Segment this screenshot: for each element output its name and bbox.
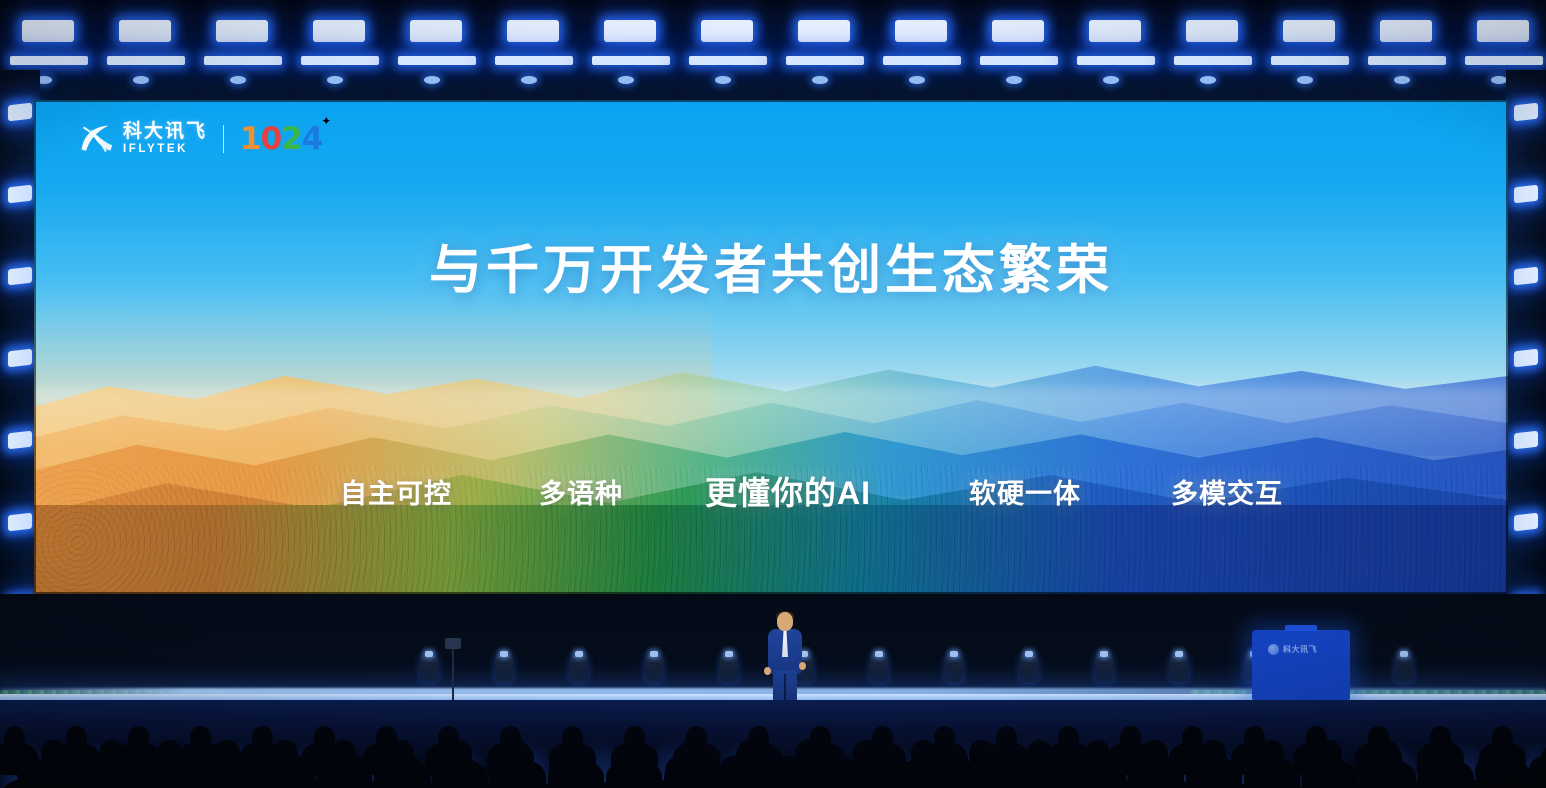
keynote-speaker — [764, 612, 806, 708]
audience-member — [911, 740, 936, 767]
audience-member — [4, 726, 25, 748]
ceiling-spot-icon — [1200, 76, 1216, 84]
moving-head-light-icon — [570, 656, 588, 682]
audience-member — [449, 756, 478, 787]
ceiling-spot-icon — [424, 76, 440, 84]
ceiling-spot-icon — [133, 76, 149, 84]
ceiling-bar-light-icon — [1174, 56, 1252, 65]
audience-member — [190, 726, 211, 748]
logo-divider — [223, 125, 224, 153]
ceiling-panel-light-icon — [1089, 20, 1141, 42]
ceiling-spot-icon — [812, 76, 828, 84]
ceiling-light-bay — [776, 0, 872, 96]
audience-member — [314, 726, 335, 748]
audience-member — [1259, 756, 1288, 787]
audience-member — [41, 740, 66, 767]
moving-head-light-icon — [495, 656, 513, 682]
brand-name-en: IFLYTEK — [123, 144, 207, 156]
ceiling-light-bay — [291, 0, 387, 96]
audience-member — [557, 756, 586, 787]
ceiling-truss — [0, 0, 1546, 96]
ceiling-panel-light-icon — [410, 20, 462, 42]
ceiling-panel-light-icon — [1380, 20, 1432, 42]
audience-member — [157, 740, 182, 767]
audience-member — [773, 756, 802, 787]
feature-label-1: 多语种 — [539, 472, 623, 511]
truss-lamp-icon — [8, 103, 32, 122]
moving-head-light-icon — [1395, 656, 1413, 682]
audience-member — [125, 756, 154, 787]
ceiling-bar-light-icon — [1368, 56, 1446, 65]
audience-member — [287, 756, 316, 787]
podium-logo-label: 科大讯飞 — [1283, 644, 1317, 655]
ceiling-panel-light-icon — [992, 20, 1044, 42]
podium-logo: 科大讯飞 — [1268, 644, 1317, 655]
sparkle-bird-icon: ✦ — [321, 114, 331, 128]
ceiling-spot-icon — [1006, 76, 1022, 84]
ceiling-panel-light-icon — [701, 20, 753, 42]
speaker-head — [777, 612, 793, 631]
audience-member — [395, 756, 424, 787]
iflytek-logo: 科大讯飞 IFLYTEK — [78, 122, 207, 156]
ceiling-panel-light-icon — [22, 20, 74, 42]
audience-member — [853, 740, 878, 767]
moving-head-light-icon — [720, 656, 738, 682]
truss-lamp-icon — [8, 185, 32, 204]
ceiling-bar-light-icon — [107, 56, 185, 65]
ceiling-light-bay — [970, 0, 1066, 96]
ceiling-light-bay — [679, 0, 775, 96]
audience-member — [1120, 726, 1141, 748]
ceiling-panel-light-icon — [313, 20, 365, 42]
ceiling-panel-light-icon — [216, 20, 268, 42]
ceiling-bar-light-icon — [495, 56, 573, 65]
audience-member — [233, 756, 262, 787]
ceiling-light-bay — [388, 0, 484, 96]
ceiling-spot-icon — [1297, 76, 1313, 84]
audience-seating — [0, 700, 1546, 788]
ceiling-spot-icon — [521, 76, 537, 84]
truss-lamp-icon — [1514, 267, 1538, 286]
event-logo-digit: 4 — [302, 121, 323, 157]
audience-member — [1058, 726, 1079, 748]
ceiling-bar-light-icon — [398, 56, 476, 65]
audience-member — [66, 726, 87, 748]
ceiling-spot-icon — [618, 76, 634, 84]
ceiling-light-bay — [1358, 0, 1454, 96]
ceiling-light-bay — [485, 0, 581, 96]
audience-member — [252, 726, 273, 748]
ceiling-spot-icon — [715, 76, 731, 84]
ceiling-panel-light-icon — [604, 20, 656, 42]
ceiling-light-bay — [1261, 0, 1357, 96]
ceiling-spot-icon — [1394, 76, 1410, 84]
truss-lamp-icon — [1514, 513, 1538, 532]
event-logo-digit: 1 — [240, 121, 261, 157]
brand-logo-row: 科大讯飞 IFLYTEK 1024 ✦ — [78, 122, 322, 156]
truss-lamp-icon — [1514, 185, 1538, 204]
ceiling-bar-light-icon — [883, 56, 961, 65]
ceiling-panel-light-icon — [798, 20, 850, 42]
ceiling-light-bay — [873, 0, 969, 96]
audience-member — [17, 756, 46, 787]
truss-lamp-icon — [1514, 431, 1538, 450]
speaker-left-hand — [764, 667, 771, 675]
audience-member — [1043, 756, 1072, 787]
ceiling-bar-light-icon — [1077, 56, 1155, 65]
feature-label-row: 自主可控多语种更懂你的AI软硬一体多模交互 — [34, 472, 1508, 516]
audience-member — [934, 726, 955, 748]
audience-member — [503, 756, 532, 787]
ceiling-bar-light-icon — [592, 56, 670, 65]
event-1024-logo: 1024 ✦ — [240, 122, 322, 156]
audience-member — [1182, 726, 1203, 748]
ceiling-panel-light-icon — [895, 20, 947, 42]
ceiling-panel-light-icon — [119, 20, 171, 42]
ceiling-panel-light-icon — [1283, 20, 1335, 42]
audience-member — [1367, 756, 1396, 787]
audience-member — [179, 756, 208, 787]
audience-member — [1313, 756, 1342, 787]
audience-member — [341, 756, 370, 787]
event-logo-digits: 1024 — [240, 124, 322, 155]
audience-member — [1529, 756, 1546, 787]
led-presentation-screen: 科大讯飞 IFLYTEK 1024 ✦ 与千万开发者共创生态繁荣 自主可控多语种… — [34, 100, 1508, 594]
moving-head-light-icon — [945, 656, 963, 682]
feature-label-0: 自主可控 — [340, 472, 452, 511]
audience-member — [1421, 756, 1450, 787]
ceiling-light-bay — [582, 0, 678, 96]
audience-member — [1205, 756, 1234, 787]
brand-name-cn: 科大讯飞 — [123, 122, 207, 141]
ceiling-light-bay — [194, 0, 290, 96]
audience-member — [827, 756, 856, 787]
ceiling-panel-light-icon — [1186, 20, 1238, 42]
ceiling-bar-light-icon — [689, 56, 767, 65]
ceiling-light-bay — [97, 0, 193, 96]
ceiling-bar-light-icon — [980, 56, 1058, 65]
moving-head-light-icon — [645, 656, 663, 682]
feature-label-4: 多模交互 — [1171, 472, 1283, 511]
venue-room: 科大讯飞 IFLYTEK 1024 ✦ 与千万开发者共创生态繁荣 自主可控多语种… — [0, 0, 1546, 788]
moving-head-light-icon — [420, 656, 438, 682]
ceiling-spot-icon — [327, 76, 343, 84]
event-logo-digit: 2 — [281, 121, 302, 157]
ceiling-light-bay — [1164, 0, 1260, 96]
truss-lamp-icon — [8, 513, 32, 532]
ceiling-bar-light-icon — [1271, 56, 1349, 65]
camera-tripod-icon — [452, 648, 454, 704]
audience-member — [881, 756, 910, 787]
ceiling-spot-icon — [1103, 76, 1119, 84]
podium-lectern: 科大讯飞 — [1252, 630, 1350, 700]
audience-member — [989, 756, 1018, 787]
ceiling-bar-light-icon — [786, 56, 864, 65]
ceiling-light-bay — [1067, 0, 1163, 96]
ceiling-bar-light-icon — [301, 56, 379, 65]
slide-headline: 与千万开发者共创生态繁荣 — [34, 228, 1508, 304]
ceiling-panel-light-icon — [1477, 20, 1529, 42]
audience-member — [1475, 756, 1504, 787]
moving-head-light-icon — [870, 656, 888, 682]
ceiling-spot-icon — [909, 76, 925, 84]
audience-member — [128, 726, 149, 748]
truss-lamp-icon — [1514, 349, 1538, 368]
event-logo-digit: 0 — [261, 121, 282, 157]
iflytek-swoosh-icon — [78, 123, 114, 155]
truss-lamp-icon — [8, 267, 32, 286]
truss-lamp-icon — [1514, 103, 1538, 122]
audience-member — [1151, 756, 1180, 787]
feature-label-2: 更懂你的AI — [705, 468, 871, 514]
moving-head-light-icon — [1095, 656, 1113, 682]
ceiling-bar-light-icon — [204, 56, 282, 65]
audience-member — [1097, 756, 1126, 787]
feature-label-3: 软硬一体 — [969, 472, 1081, 511]
audience-member — [665, 756, 694, 787]
moving-head-light-icon — [1170, 656, 1188, 682]
audience-member — [611, 756, 640, 787]
ceiling-spot-icon — [230, 76, 246, 84]
podium-logo-mark-icon — [1268, 644, 1279, 655]
audience-member — [719, 756, 748, 787]
audience-member — [996, 726, 1017, 748]
audience-member — [935, 756, 964, 787]
ceiling-panel-light-icon — [507, 20, 559, 42]
audience-member — [99, 740, 124, 767]
moving-head-light-icon — [1020, 656, 1038, 682]
truss-lamp-icon — [8, 431, 32, 450]
speaker-right-hand — [799, 662, 806, 670]
truss-lamp-icon — [8, 349, 32, 368]
audience-member — [71, 756, 100, 787]
